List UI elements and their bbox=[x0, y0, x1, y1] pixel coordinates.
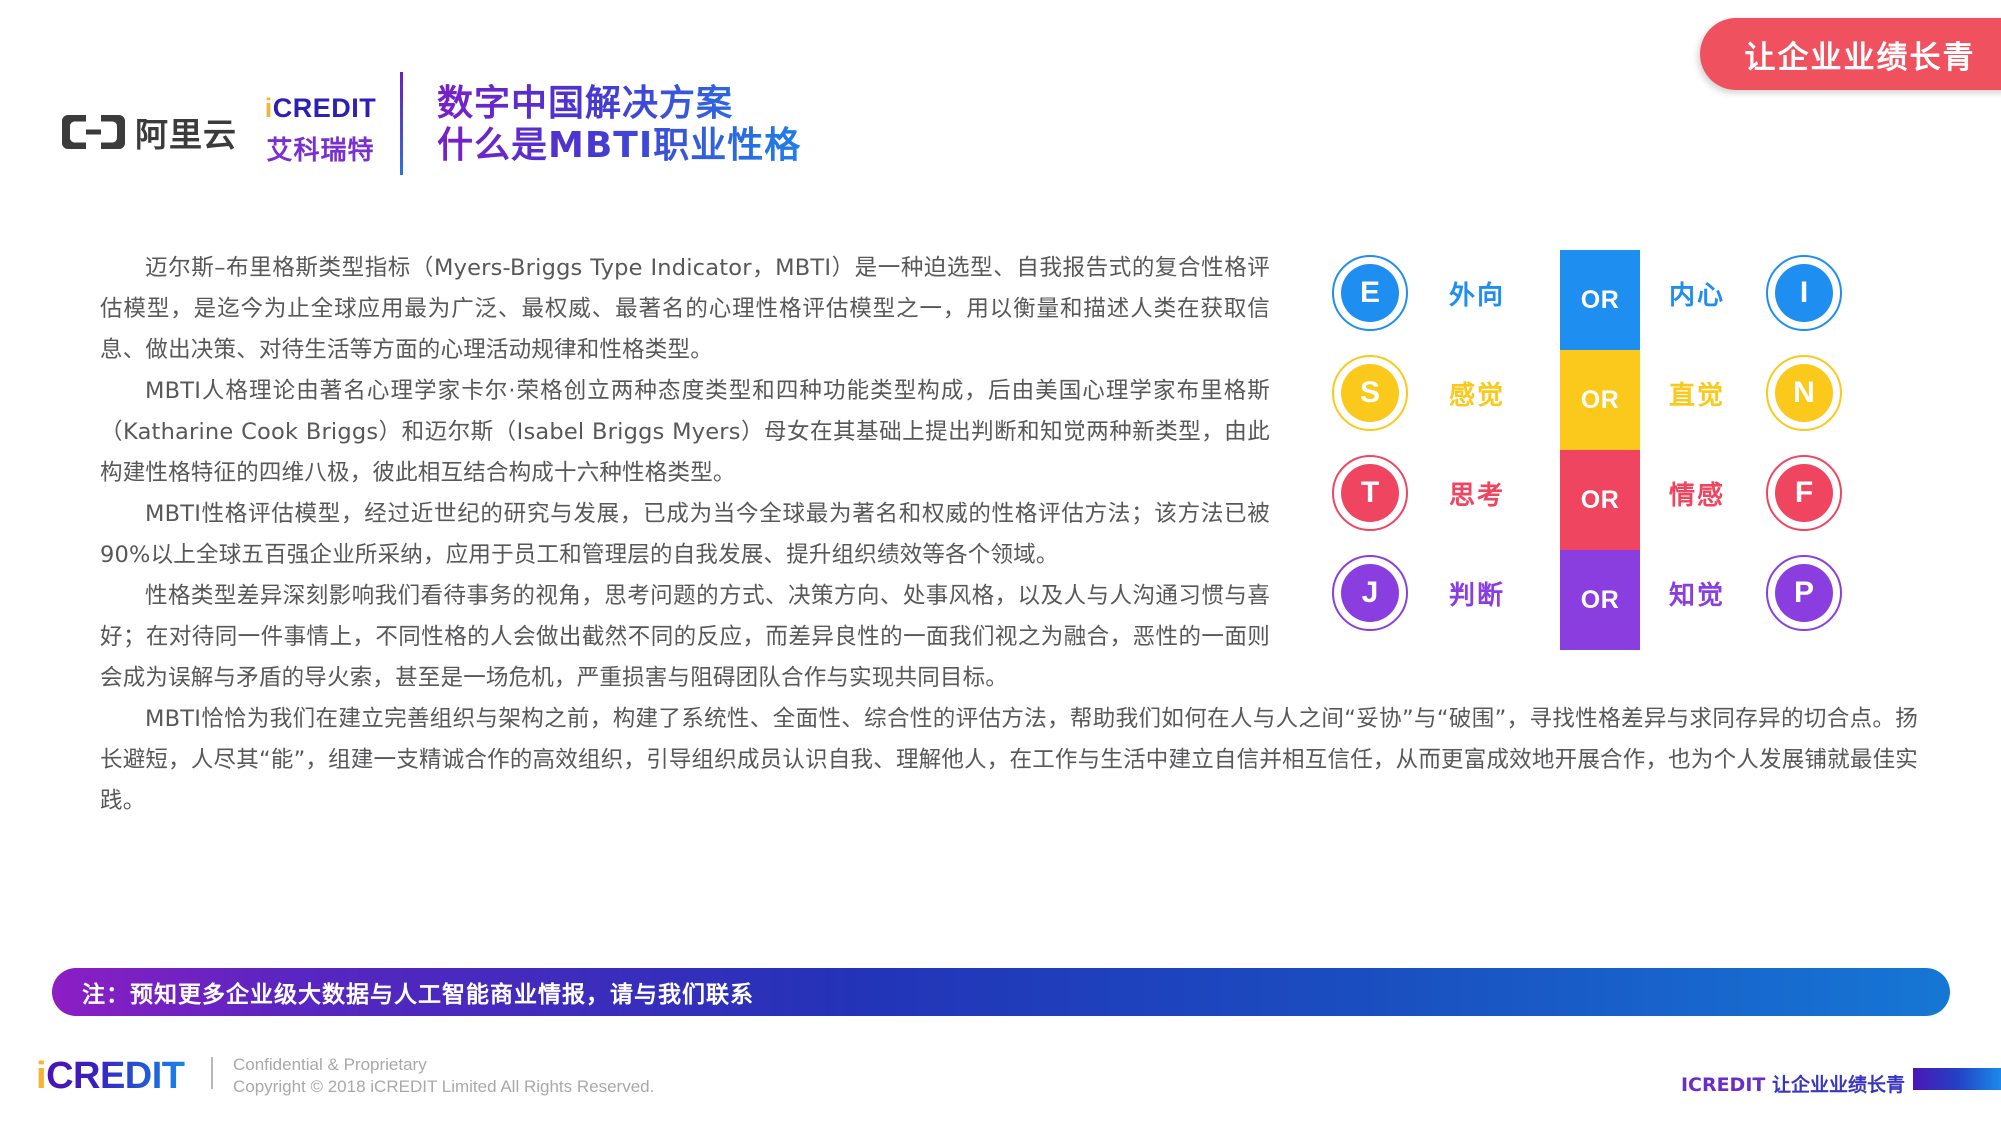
footer-divider bbox=[211, 1057, 213, 1089]
mbti-circle-e: E bbox=[1332, 255, 1408, 331]
or-cell-sn: OR bbox=[1560, 350, 1640, 450]
mbti-word-left-jp: 判断 bbox=[1408, 575, 1546, 612]
footer-right-en: ICREDIT bbox=[1681, 1074, 1772, 1096]
mbti-letter-n: N bbox=[1793, 376, 1815, 410]
or-cell-tf: OR bbox=[1560, 450, 1640, 550]
mbti-circle-i: I bbox=[1766, 255, 1842, 331]
or-cell-ei: OR bbox=[1560, 250, 1640, 350]
mbti-letter-j: J bbox=[1362, 576, 1379, 610]
icredit-en-rest: CREDIT bbox=[273, 93, 377, 123]
alibaba-cloud-logo: 阿里云 bbox=[62, 108, 237, 156]
circle-disc: T bbox=[1341, 464, 1399, 522]
mbti-word-right-jp: 知觉 bbox=[1628, 575, 1766, 612]
mbti-word-left-sn: 感觉 bbox=[1408, 375, 1546, 412]
mbti-letter-t: T bbox=[1361, 476, 1379, 510]
mbti-letter-e: E bbox=[1360, 276, 1380, 310]
header-divider bbox=[400, 72, 403, 175]
paragraph-2: MBTI人格理论由著名心理学家卡尔·荣格创立两种态度类型和四种功能类型构成，后由… bbox=[100, 371, 1270, 494]
circle-disc: P bbox=[1775, 564, 1833, 622]
mbti-circle-n: N bbox=[1766, 355, 1842, 431]
or-cell-jp: OR bbox=[1560, 550, 1640, 650]
mbti-word-right-ei: 内心 bbox=[1628, 275, 1766, 312]
mbti-or-column: OR OR OR OR bbox=[1560, 250, 1640, 650]
paragraph-3: MBTI性格评估模型，经过近世纪的研究与发展，已成为当今全球最为著名和权威的性格… bbox=[100, 494, 1270, 576]
circle-disc: S bbox=[1341, 364, 1399, 422]
paragraph-5: MBTI恰恰为我们在建立完善组织与架构之前，构建了系统性、全面性、综合性的评估方… bbox=[100, 699, 1918, 822]
circle-disc: F bbox=[1775, 464, 1833, 522]
circle-disc: E bbox=[1341, 264, 1399, 322]
mbti-circle-t: T bbox=[1332, 455, 1408, 531]
icredit-brand-block: iCREDIT 艾科瑞特 bbox=[258, 93, 383, 167]
alibaba-cloud-label: 阿里云 bbox=[135, 108, 237, 156]
page-title: 数字中国解决方案 什么是MBTI职业性格 bbox=[437, 83, 801, 168]
footer-right-cn: 让企业业绩长青 bbox=[1772, 1074, 1905, 1096]
slide-root: 让企业业绩长青 阿里云 iCREDIT 艾科瑞特 数字中国解决方案 什么是MBT… bbox=[0, 0, 2001, 1125]
footer-copyright: Confidential & Proprietary Copyright © 2… bbox=[233, 1054, 654, 1098]
mbti-letter-f: F bbox=[1795, 476, 1813, 510]
mbti-circle-s: S bbox=[1332, 355, 1408, 431]
paragraph-4: 性格类型差异深刻影响我们看待事务的视角，思考问题的方式、决策方向、处事风格，以及… bbox=[100, 576, 1270, 699]
paragraph-1: 迈尔斯–布里格斯类型指标（Myers-Briggs Type Indicator… bbox=[100, 248, 1270, 371]
page-title-line2: 什么是MBTI职业性格 bbox=[437, 125, 801, 167]
page-title-line1: 数字中国解决方案 bbox=[437, 83, 801, 125]
footer-logo-rest: CREDIT bbox=[46, 1055, 184, 1097]
bottom-banner-text: 注：预知更多企业级大数据与人工智能商业情报，请与我们联系 bbox=[82, 975, 754, 1009]
footer-icredit-logo: iCREDIT bbox=[36, 1055, 185, 1098]
icredit-en-i: i bbox=[265, 93, 273, 123]
mbti-word-left-ei: 外向 bbox=[1408, 275, 1546, 312]
mbti-letter-s: S bbox=[1360, 376, 1380, 410]
circle-disc: J bbox=[1341, 564, 1399, 622]
footer-right-slogan: ICREDIT 让企业业绩长青 bbox=[1681, 1070, 1905, 1097]
mbti-circle-p: P bbox=[1766, 555, 1842, 631]
circle-disc: N bbox=[1775, 364, 1833, 422]
mbti-letter-i: I bbox=[1800, 276, 1808, 310]
circle-disc: I bbox=[1775, 264, 1833, 322]
mbti-word-left-tf: 思考 bbox=[1408, 475, 1546, 512]
icredit-cn-name: 艾科瑞特 bbox=[258, 130, 383, 167]
mbti-circle-f: F bbox=[1766, 455, 1842, 531]
icredit-en-name: iCREDIT bbox=[258, 93, 383, 124]
top-banner-text: 让企业业绩长青 bbox=[1745, 32, 1976, 77]
mbti-circle-j: J bbox=[1332, 555, 1408, 631]
top-right-slogan-banner: 让企业业绩长青 bbox=[1700, 18, 2001, 90]
footer-copyright-line2: Copyright © 2018 iCREDIT Limited All Rig… bbox=[233, 1076, 654, 1098]
mbti-word-right-sn: 直觉 bbox=[1628, 375, 1766, 412]
mbti-word-right-tf: 情感 bbox=[1628, 475, 1766, 512]
footer-gradient-chip bbox=[1913, 1068, 2001, 1090]
footer-copyright-line1: Confidential & Proprietary bbox=[233, 1054, 654, 1076]
mbti-letter-p: P bbox=[1794, 576, 1814, 610]
footer-logo-i: i bbox=[36, 1055, 46, 1097]
alibaba-cloud-bracket-icon bbox=[62, 113, 125, 151]
bottom-contact-banner: 注：预知更多企业级大数据与人工智能商业情报，请与我们联系 bbox=[52, 968, 1950, 1016]
